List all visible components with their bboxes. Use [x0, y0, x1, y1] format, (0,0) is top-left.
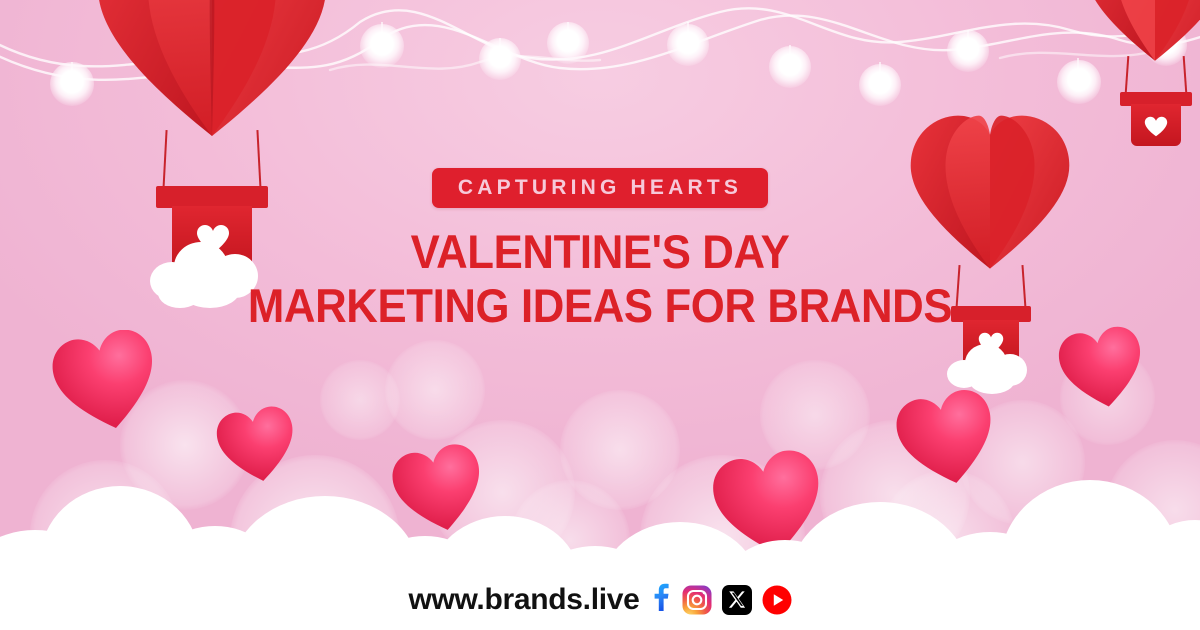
instagram-glyph — [682, 585, 712, 615]
x-icon[interactable] — [722, 585, 752, 615]
light-bulb-icon — [50, 62, 94, 106]
instagram-icon[interactable] — [682, 585, 712, 615]
light-bulb-icon — [360, 24, 404, 68]
heart-6 — [1058, 326, 1146, 415]
light-bulb-icon — [859, 64, 901, 106]
youtube-glyph — [762, 585, 792, 615]
balloon-top-right — [1080, 0, 1200, 92]
site-url[interactable]: www.brands.live — [408, 583, 639, 617]
headline-line-1: VALENTINE'S DAY — [42, 228, 1158, 277]
banner-canvas: CAPTURING HEARTS VALENTINE'S DAY MARKETI… — [0, 0, 1200, 630]
balloon-top-right-heart-icon — [1080, 0, 1200, 62]
heart-1 — [52, 330, 160, 437]
light-bulb-icon — [769, 46, 811, 88]
light-bulb-icon — [667, 24, 709, 66]
basket-heart-icon — [1144, 116, 1168, 142]
light-bulb-icon — [547, 22, 589, 64]
headline-block: CAPTURING HEARTS VALENTINE'S DAY MARKETI… — [0, 168, 1200, 331]
footer-bar: www.brands.live — [0, 582, 1200, 617]
facebook-glyph — [650, 582, 672, 612]
eyebrow-badge: CAPTURING HEARTS — [432, 168, 768, 208]
facebook-icon[interactable] — [650, 582, 672, 617]
youtube-icon[interactable] — [762, 585, 792, 615]
light-bulb-icon — [947, 30, 989, 72]
balloon-left-heart-icon — [92, 0, 332, 138]
light-bulb-icon — [479, 38, 521, 80]
headline-line-2: MARKETING IDEAS FOR BRANDS — [42, 282, 1158, 331]
x-glyph — [722, 585, 752, 615]
